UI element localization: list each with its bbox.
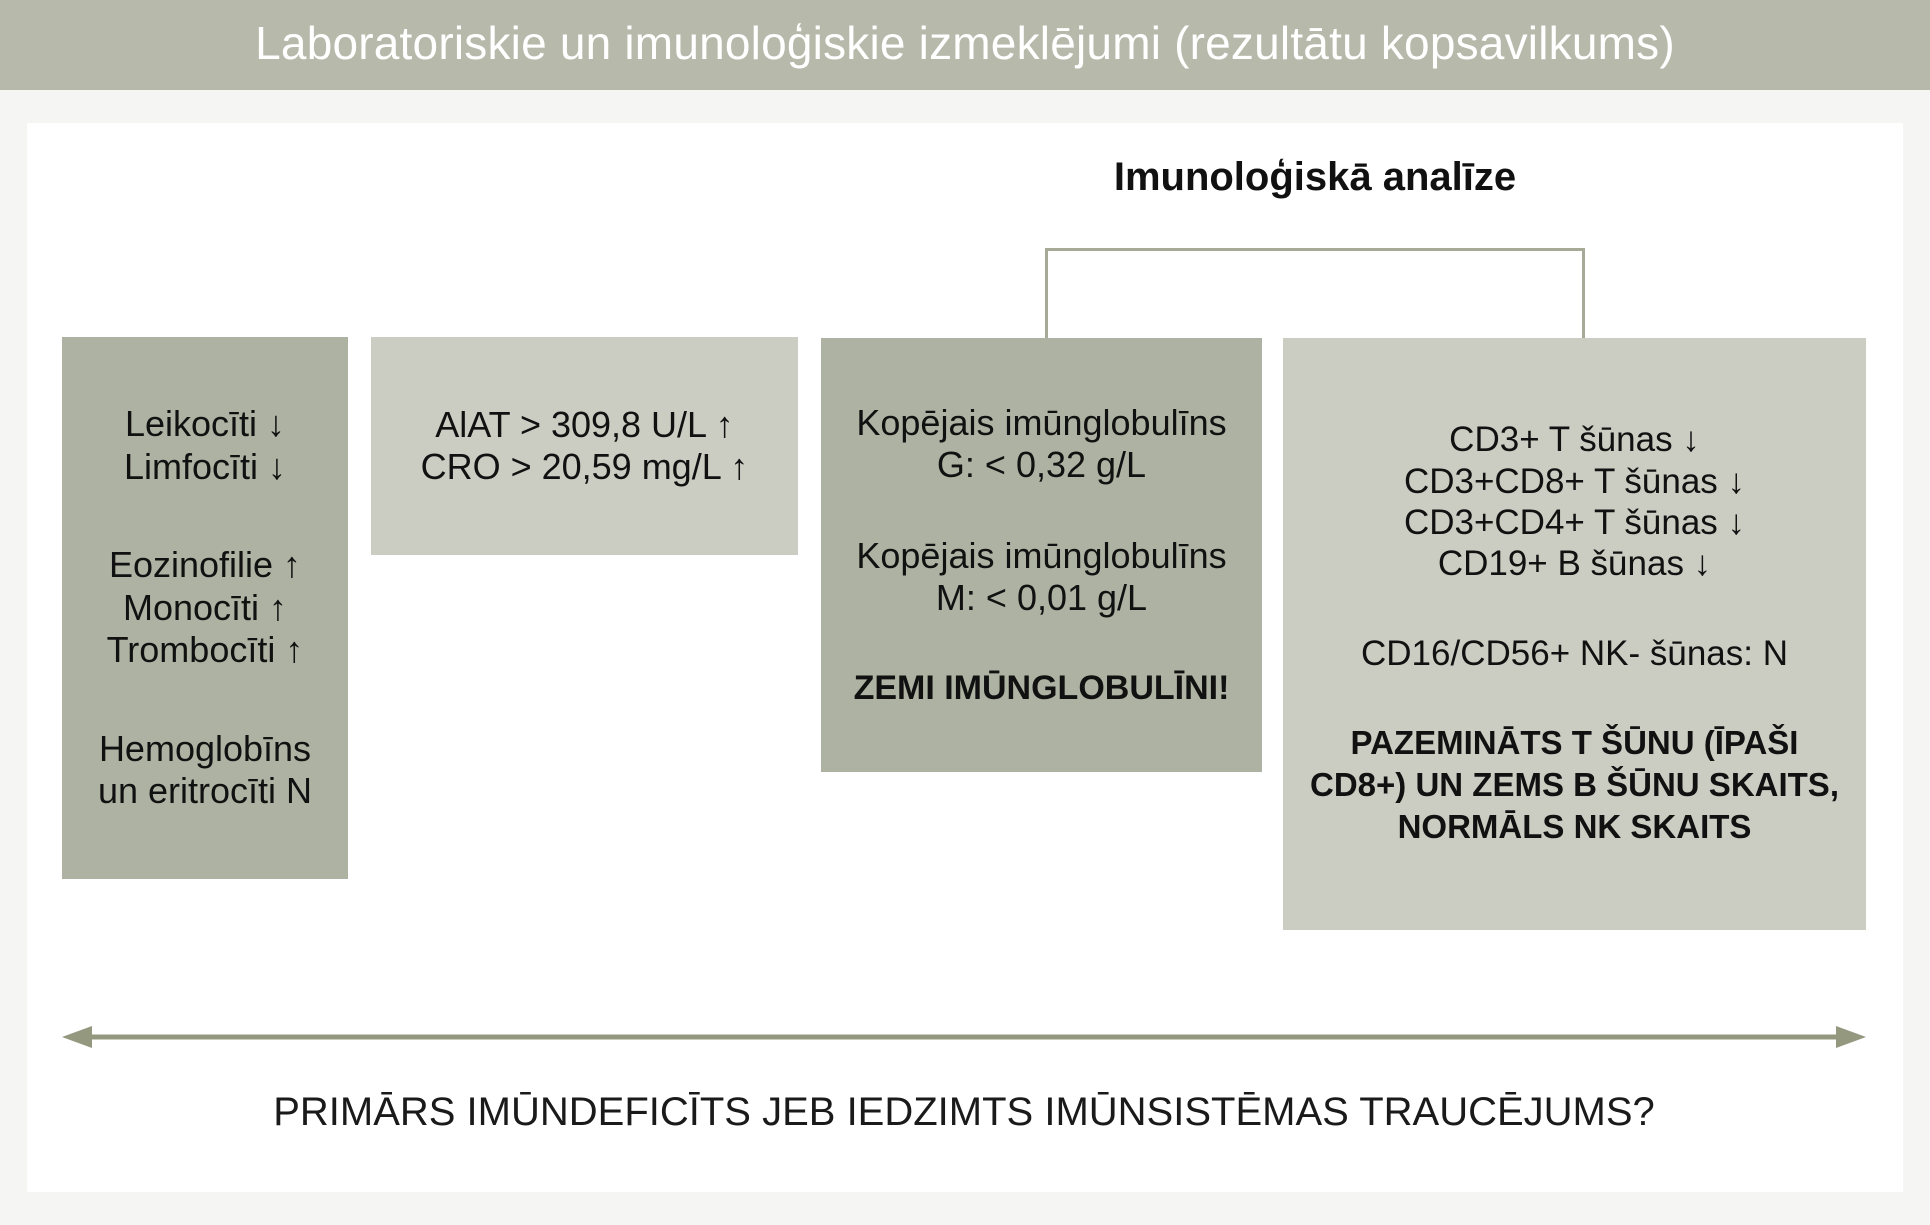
footer-caption: PRIMĀRS IMŪNDEFICĪTS JEB IEDZIMTS IMŪNSI… — [62, 1090, 1866, 1135]
spacer — [72, 488, 338, 544]
title-bar: Laboratoriskie un imunoloģiskie izmeklēj… — [0, 0, 1930, 90]
cells-line-nk: CD16/CD56+ NK- šūnas: N — [1299, 633, 1850, 674]
box-blood-count: Leikocīti ↓ Limfocīti ↓ Eozinofilie ↑ Mo… — [62, 337, 348, 879]
ig-line-g-label: Kopējais imūnglobulīns — [835, 402, 1248, 444]
slide-root: Laboratoriskie un imunoloģiskie izmeklēj… — [0, 0, 1930, 1225]
blood-line-monocytes: Monocīti ↑ — [72, 587, 338, 629]
box-biochemistry: AlAT > 309,8 U/L ↑ CRO > 20,59 mg/L ↑ — [371, 337, 798, 555]
box-immunoglobulins: Kopējais imūnglobulīns G: < 0,32 g/L Kop… — [821, 338, 1262, 772]
ig-line-m-label: Kopējais imūnglobulīns — [835, 535, 1248, 577]
spacer — [1299, 674, 1850, 722]
chem-line-alat: AlAT > 309,8 U/L ↑ — [383, 404, 786, 446]
blood-line-eosinophilia: Eozinofilie ↑ — [72, 544, 338, 586]
spacer — [835, 620, 1248, 668]
cells-line-cd19: CD19+ B šūnas ↓ — [1299, 543, 1850, 584]
cells-line-cd3cd8: CD3+CD8+ T šūnas ↓ — [1299, 461, 1850, 502]
blood-line-hemoglobin-2: un eritrocīti N — [72, 770, 338, 812]
cells-conclusion-3: NORMĀLS NK SKAITS — [1299, 806, 1850, 848]
box-lymphocyte-subsets: CD3+ T šūnas ↓ CD3+CD8+ T šūnas ↓ CD3+CD… — [1283, 338, 1866, 930]
blood-line-thrombocytes: Trombocīti ↑ — [72, 629, 338, 671]
section-heading-immunology: Imunoloģiskā analīze — [1050, 155, 1580, 200]
spacer — [1299, 585, 1850, 633]
cells-line-cd3: CD3+ T šūnas ↓ — [1299, 419, 1850, 460]
chem-line-cro: CRO > 20,59 mg/L ↑ — [383, 446, 786, 488]
double-headed-arrow-icon — [62, 1020, 1866, 1054]
blood-line-lymphocytes: Limfocīti ↓ — [72, 446, 338, 488]
cells-line-cd3cd4: CD3+CD4+ T šūnas ↓ — [1299, 502, 1850, 543]
ig-line-g-value: G: < 0,32 g/L — [835, 444, 1248, 486]
cells-conclusion-1: PAZEMINĀTS T ŠŪNU (ĪPAŠI — [1299, 722, 1850, 764]
ig-line-m-value: M: < 0,01 g/L — [835, 577, 1248, 619]
bracket-connector — [1045, 248, 1585, 340]
spacer — [72, 672, 338, 728]
spacer — [835, 487, 1248, 535]
blood-line-hemoglobin-1: Hemoglobīns — [72, 728, 338, 770]
page-title: Laboratoriskie un imunoloģiskie izmeklēj… — [0, 0, 1930, 90]
cells-conclusion-2: CD8+) UN ZEMS B ŠŪNU SKAITS, — [1299, 764, 1850, 806]
blood-line-leukocytes: Leikocīti ↓ — [72, 403, 338, 445]
ig-conclusion: ZEMI IMŪNGLOBULĪNI! — [835, 668, 1248, 708]
